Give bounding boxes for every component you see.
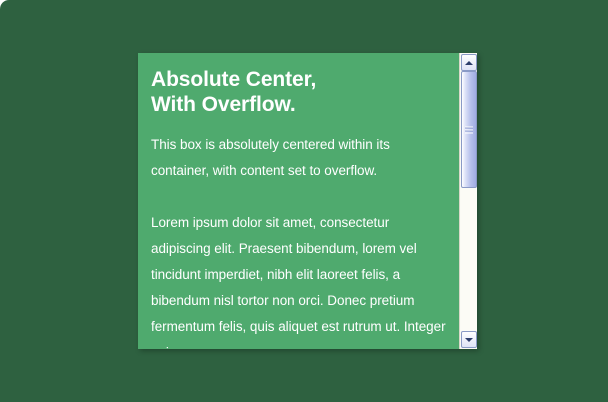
box-content-area: Absolute Center, With Overflow. This box… — [138, 53, 459, 349]
vertical-scrollbar[interactable] — [459, 53, 477, 349]
scrollbar-track[interactable] — [461, 71, 477, 331]
intro-paragraph: This box is absolutely centered within i… — [150, 132, 449, 184]
absolute-centered-box: Absolute Center, With Overflow. This box… — [138, 53, 477, 349]
scroll-down-button[interactable] — [461, 331, 477, 348]
grip-lines-icon — [465, 126, 473, 133]
scrollbar-thumb[interactable] — [461, 71, 477, 188]
chevron-down-icon — [465, 338, 473, 342]
lorem-paragraph: Lorem ipsum dolor sit amet, consectetur … — [150, 210, 449, 349]
scroll-up-button[interactable] — [461, 54, 477, 71]
page-background: Absolute Center, With Overflow. This box… — [0, 0, 608, 402]
page-title: Absolute Center, With Overflow. — [150, 67, 449, 117]
chevron-up-icon — [465, 61, 473, 65]
